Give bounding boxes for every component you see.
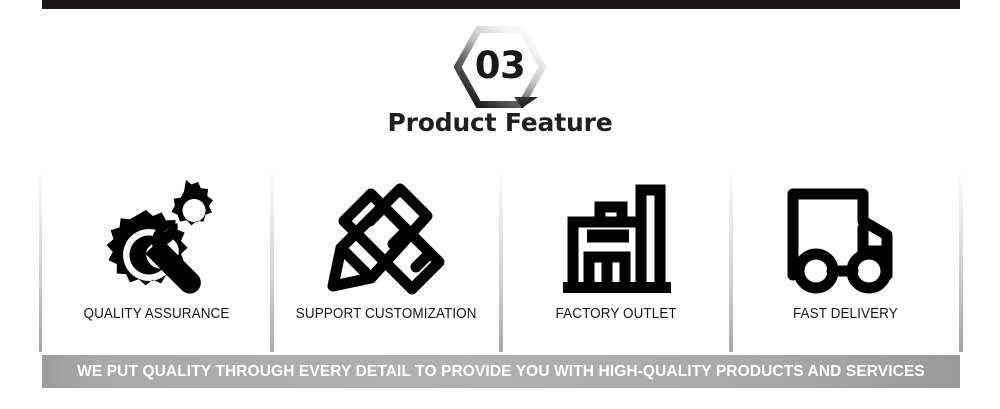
page-title: Product Feature [0,108,1000,137]
section-badge: 03 [0,26,1000,113]
feature-card-quality-assurance[interactable]: QUALITY ASSURANCE [42,166,272,352]
gear-wrench-icon [82,166,232,306]
feature-label: SUPPORT CUSTOMIZATION [296,306,477,322]
feature-strip: QUALITY ASSURANCE SUPPORT CUSTOMIZATION [42,166,960,352]
feature-label: QUALITY ASSURANCE [84,306,230,322]
feature-card-support-customization[interactable]: SUPPORT CUSTOMIZATION [272,166,502,352]
tagline-banner: WE PUT QUALITY THROUGH EVERY DETAIL TO P… [42,355,960,388]
factory-icon [541,166,691,306]
feature-card-factory-outlet[interactable]: FACTORY OUTLET [501,166,731,352]
top-rule [42,0,960,9]
pencil-ruler-icon [311,166,461,306]
feature-card-fast-delivery[interactable]: FAST DELIVERY [731,166,961,352]
delivery-truck-icon [770,166,920,306]
feature-label: FAST DELIVERY [793,306,898,322]
badge-number: 03 [454,26,546,108]
tagline-text: WE PUT QUALITY THROUGH EVERY DETAIL TO P… [77,363,925,381]
feature-label: FACTORY OUTLET [555,306,676,322]
hexagon-badge: 03 [454,26,546,108]
